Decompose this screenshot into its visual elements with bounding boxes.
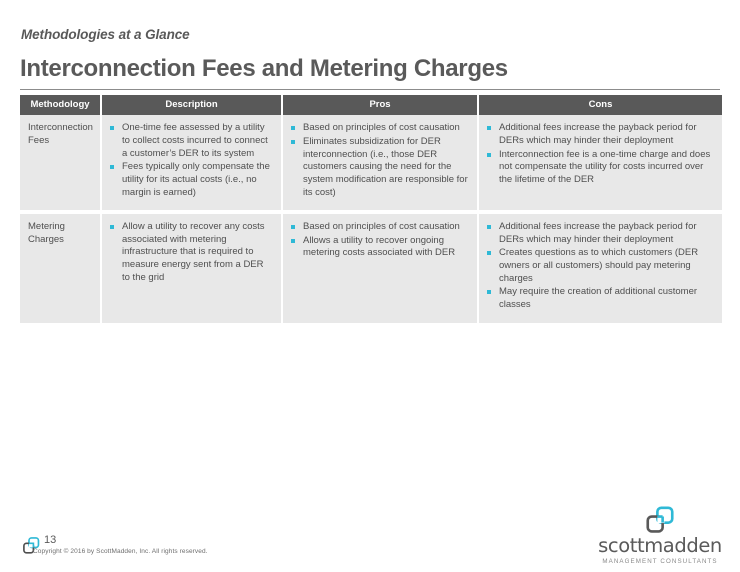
list-item: May require the creation of additional c…: [487, 286, 714, 311]
list-item-text: Creates questions as to which customers …: [499, 247, 698, 283]
list-item: Based on principles of cost causation: [291, 122, 469, 135]
brand-name: scottmadden: [590, 536, 730, 556]
table-header-row: Methodology Description Pros Cons: [20, 95, 722, 115]
square-bullet-icon: [110, 165, 114, 169]
methodologies-table: Methodology Description Pros Cons Interc…: [20, 95, 722, 323]
list-item-text: Interconnection fee is a one-time charge…: [499, 149, 710, 185]
list-item: Eliminates subsidization for DER interco…: [291, 136, 469, 199]
description-list: Allow a utility to recover any costs ass…: [110, 221, 273, 284]
square-bullet-icon: [487, 225, 491, 229]
square-bullet-icon: [291, 225, 295, 229]
list-item: Additional fees increase the payback per…: [487, 122, 714, 147]
pros-list: Based on principles of cost causation Al…: [291, 221, 469, 260]
column-header-description: Description: [102, 95, 283, 115]
list-item-text: Fees typically only compensate the utili…: [122, 161, 270, 197]
list-item: Based on principles of cost causation: [291, 221, 469, 234]
column-header-methodology: Methodology: [20, 95, 102, 115]
square-bullet-icon: [487, 126, 491, 130]
cell-methodology: Metering Charges: [20, 214, 102, 322]
square-bullet-icon: [110, 225, 114, 229]
list-item-text: Based on principles of cost causation: [303, 221, 460, 232]
column-header-pros: Pros: [283, 95, 479, 115]
scottmadden-logo-mark-icon: [645, 506, 675, 534]
list-item-text: Additional fees increase the payback per…: [499, 122, 697, 146]
table-row: Metering Charges Allow a utility to reco…: [20, 214, 722, 322]
square-bullet-icon: [487, 251, 491, 255]
list-item-text: Allows a utility to recover ongoing mete…: [303, 235, 455, 259]
list-item: Additional fees increase the payback per…: [487, 221, 714, 246]
cons-list: Additional fees increase the payback per…: [487, 221, 714, 311]
square-bullet-icon: [291, 126, 295, 130]
copyright-notice: Copyright © 2016 by ScottMadden, Inc. Al…: [33, 548, 208, 555]
cell-cons: Additional fees increase the payback per…: [479, 214, 722, 322]
methodology-label: Metering Charges: [28, 221, 92, 246]
title-divider: [20, 89, 720, 90]
list-item-text: Based on principles of cost causation: [303, 122, 460, 133]
cell-cons: Additional fees increase the payback per…: [479, 115, 722, 214]
square-bullet-icon: [487, 290, 491, 294]
cell-pros: Based on principles of cost causation Al…: [283, 214, 479, 322]
column-header-cons: Cons: [479, 95, 722, 115]
slide-eyebrow: Methodologies at a Glance: [21, 27, 190, 42]
page-number: 13: [44, 534, 56, 546]
slide-canvas: Methodologies at a Glance Interconnectio…: [0, 0, 740, 572]
cell-description: Allow a utility to recover any costs ass…: [102, 214, 283, 322]
list-item: Interconnection fee is a one-time charge…: [487, 149, 714, 187]
brand-tagline: MANAGEMENT CONSULTANTS: [590, 558, 730, 565]
list-item: Fees typically only compensate the utili…: [110, 161, 273, 199]
list-item: One-time fee assessed by a utility to co…: [110, 122, 273, 160]
list-item: Allow a utility to recover any costs ass…: [110, 221, 273, 284]
square-bullet-icon: [110, 126, 114, 130]
list-item-text: May require the creation of additional c…: [499, 286, 697, 310]
list-item-text: Eliminates subsidization for DER interco…: [303, 136, 468, 198]
list-item-text: Allow a utility to recover any costs ass…: [122, 221, 265, 283]
cell-description: One-time fee assessed by a utility to co…: [102, 115, 283, 214]
cell-pros: Based on principles of cost causation El…: [283, 115, 479, 214]
square-bullet-icon: [291, 239, 295, 243]
list-item: Allows a utility to recover ongoing mete…: [291, 235, 469, 260]
cons-list: Additional fees increase the payback per…: [487, 122, 714, 186]
square-bullet-icon: [291, 140, 295, 144]
table-row: Interconnection Fees One-time fee assess…: [20, 115, 722, 214]
pros-list: Based on principles of cost causation El…: [291, 122, 469, 199]
methodology-label: Interconnection Fees: [28, 122, 92, 147]
description-list: One-time fee assessed by a utility to co…: [110, 122, 273, 199]
list-item-text: Additional fees increase the payback per…: [499, 221, 697, 245]
list-item: Creates questions as to which customers …: [487, 247, 714, 285]
cell-methodology: Interconnection Fees: [20, 115, 102, 214]
brand-logo: scottmadden MANAGEMENT CONSULTANTS: [590, 506, 730, 564]
square-bullet-icon: [487, 153, 491, 157]
list-item-text: One-time fee assessed by a utility to co…: [122, 122, 268, 158]
page-title: Interconnection Fees and Metering Charge…: [20, 55, 508, 83]
